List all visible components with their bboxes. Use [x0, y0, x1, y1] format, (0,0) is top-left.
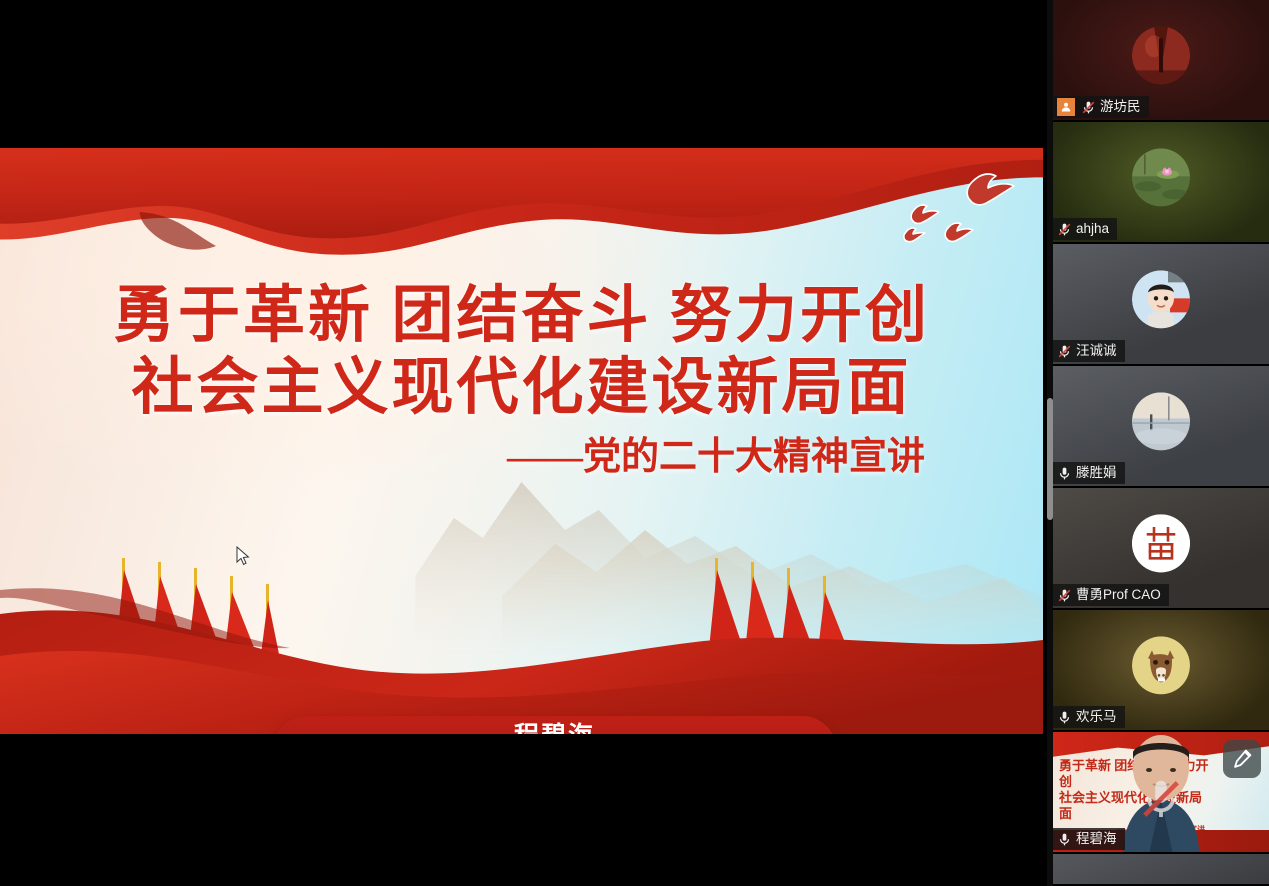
cartoon-face-avatar-icon	[1132, 270, 1190, 328]
participant-tile[interactable]: 欢乐马	[1053, 610, 1269, 732]
slide-title-block: 勇于革新 团结奋斗 努力开创 社会主义现代化建设新局面 ——党的二十大精神宣讲	[0, 280, 1043, 480]
speaker-name: 程碧海	[272, 722, 837, 734]
mic-icon	[1057, 710, 1072, 725]
avatar	[1132, 392, 1190, 450]
participant-tile[interactable]: 曹勇Prof CAO	[1053, 488, 1269, 610]
presentation-slide[interactable]: 勇于革新 团结奋斗 努力开创 社会主义现代化建设新局面 ——党的二十大精神宣讲 …	[0, 148, 1043, 734]
host-badge	[1057, 98, 1075, 116]
participant-label: 游坊民	[1053, 96, 1149, 118]
participant-label: ahjha	[1053, 218, 1117, 240]
avatar	[1132, 514, 1190, 572]
participant-label: 滕胜娟	[1053, 462, 1125, 484]
slide-subtitle: ——党的二十大精神宣讲	[0, 434, 1043, 480]
headline-line-2: 社会主义现代化建设新局面	[0, 352, 1043, 424]
shared-screen-stage[interactable]: 勇于革新 团结奋斗 努力开创 社会主义现代化建设新局面 ——党的二十大精神宣讲 …	[0, 0, 1047, 886]
speaker-nameplate: 程碧海 2022. 12. 15	[272, 716, 837, 734]
annotation-badge[interactable]	[1223, 740, 1261, 778]
avatar	[1132, 26, 1190, 84]
mic-icon	[1057, 832, 1072, 847]
mic-muted-icon	[1057, 588, 1072, 603]
avatar	[1132, 270, 1190, 328]
mic-icon	[1057, 466, 1072, 481]
lake-sunset-avatar-icon	[1132, 392, 1190, 450]
participant-label: 程碧海	[1053, 828, 1125, 850]
mic-muted-overlay-icon	[1138, 776, 1184, 822]
participant-label: 欢乐马	[1053, 706, 1125, 728]
participant-name: 程碧海	[1076, 828, 1117, 850]
mic-muted-icon	[1057, 344, 1072, 359]
participant-label: 汪诚诚	[1053, 340, 1125, 362]
mic-muted-icon	[1057, 222, 1072, 237]
participant-name: ahjha	[1076, 218, 1109, 240]
participant-name: 曹勇Prof CAO	[1076, 584, 1161, 606]
meeting-window: 勇于革新 团结奋斗 努力开创 社会主义现代化建设新局面 ——党的二十大精神宣讲 …	[0, 0, 1269, 886]
mic-muted-icon	[1081, 100, 1096, 115]
participant-tile[interactable]: 汪诚诚	[1053, 244, 1269, 366]
stage-curtain-avatar-icon	[1132, 26, 1190, 84]
seal-cao-avatar-icon	[1132, 514, 1190, 572]
participant-list[interactable]: 游坊民	[1053, 0, 1269, 886]
dove-decoration	[884, 166, 1019, 256]
horse-emoji-avatar-icon	[1132, 636, 1190, 694]
avatar	[1132, 148, 1190, 206]
participant-tile[interactable]: 游坊民	[1053, 0, 1269, 122]
participant-tile[interactable]: 滕胜娟	[1053, 366, 1269, 488]
lotus-pond-avatar-icon	[1132, 148, 1190, 206]
red-wave-ribbon	[0, 544, 1043, 734]
participant-name: 游坊民	[1100, 96, 1141, 118]
participant-name: 汪诚诚	[1076, 340, 1117, 362]
tile-background	[1053, 854, 1269, 884]
participant-name: 欢乐马	[1076, 706, 1117, 728]
avatar	[1132, 636, 1190, 694]
person-icon	[1060, 101, 1072, 113]
pencil-icon	[1231, 748, 1253, 770]
participant-tile[interactable]: 勇于革新 团结奋斗 努力开创 社会主义现代化建设新局面 ——党的二十大精神宣讲	[1053, 732, 1269, 854]
headline-line-1: 勇于革新 团结奋斗 努力开创	[0, 280, 1043, 352]
participant-tile[interactable]	[1053, 854, 1269, 886]
participant-label: 曹勇Prof CAO	[1053, 584, 1169, 606]
participant-tile[interactable]: ahjha	[1053, 122, 1269, 244]
participant-name: 滕胜娟	[1076, 462, 1117, 484]
